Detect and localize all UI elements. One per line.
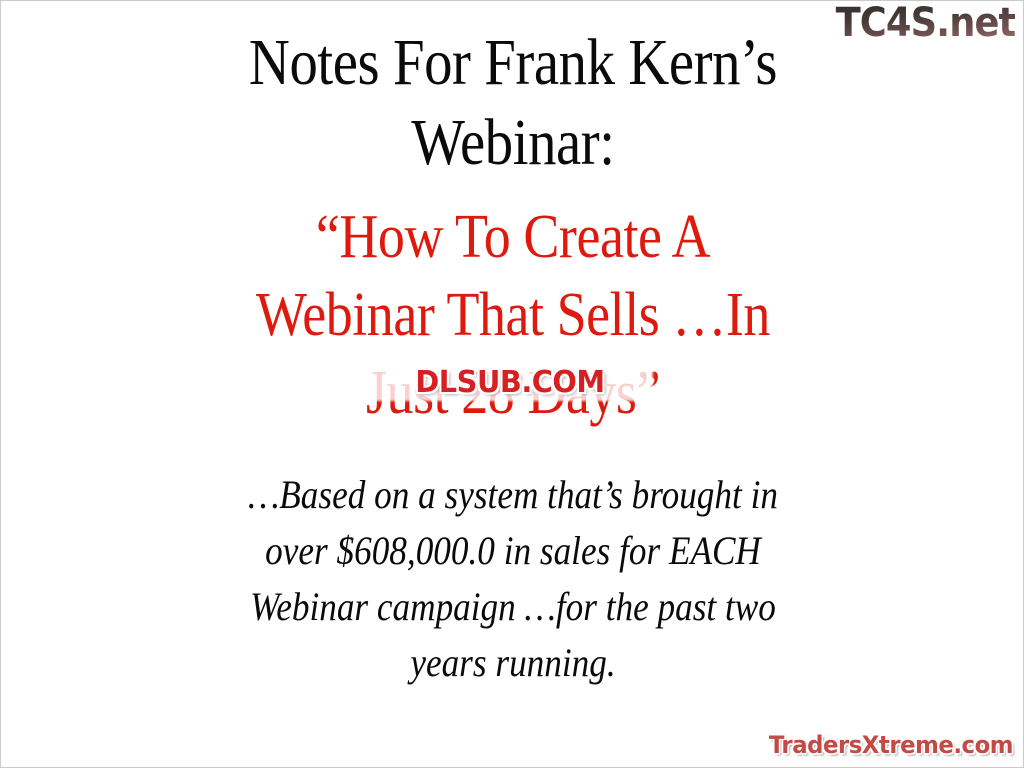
body-line-3: Webinar campaign …for the past two bbox=[62, 579, 963, 635]
title-line-2: Webinar: bbox=[73, 103, 954, 183]
slide-canvas: Notes For Frank Kern’s Webinar: “How To … bbox=[0, 0, 1024, 768]
headline-line-2: Webinar That Sells …In bbox=[68, 276, 959, 354]
watermark-tradersxtreme: TradersXtreme.com bbox=[769, 731, 1013, 759]
body-line-4: years running. bbox=[62, 635, 963, 691]
slide-body-text: …Based on a system that’s brought in ove… bbox=[1, 467, 1024, 691]
slide-title: Notes For Frank Kern’s Webinar: bbox=[1, 23, 1024, 183]
watermark-tc4s: TC4S.net bbox=[835, 3, 1015, 43]
title-line-1: Notes For Frank Kern’s bbox=[73, 23, 954, 103]
headline-line-1: “How To Create A bbox=[68, 198, 959, 276]
body-line-1: …Based on a system that’s brought in bbox=[62, 467, 963, 523]
body-line-2: over $608,000.0 in sales for EACH bbox=[62, 523, 963, 579]
watermark-dlsub-label: DLSUB.COM bbox=[373, 365, 648, 401]
watermark-dlsub: DLSUB.COM bbox=[367, 365, 653, 401]
